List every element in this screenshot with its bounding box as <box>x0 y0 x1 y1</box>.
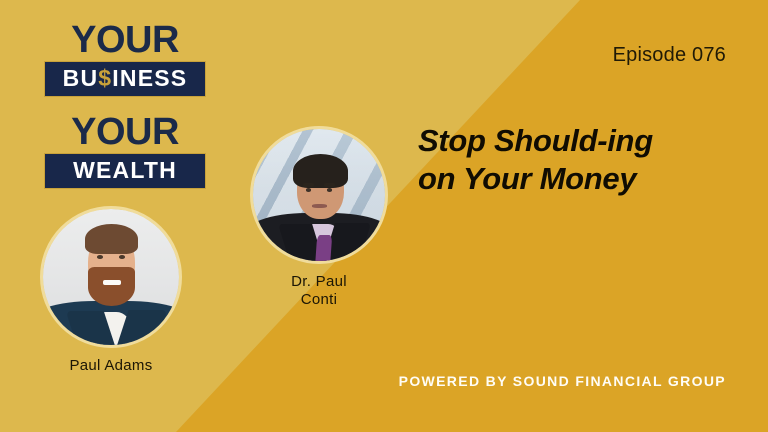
logo-badge-business: BU$INESS <box>44 61 206 97</box>
host-name-adams: Paul Adams <box>36 357 186 375</box>
host-name-adams-line-1: Paul Adams <box>69 357 152 374</box>
avatar-conti <box>250 126 388 264</box>
logo-word-your-2: YOUR <box>44 114 206 151</box>
portrait-beard <box>88 267 136 305</box>
podcast-episode-cover: YOUR BU$INESS YOUR WEALTH Episode 076 St… <box>0 0 768 432</box>
portrait-hair <box>85 224 138 254</box>
portrait-eyebrow-right <box>324 183 335 186</box>
logo-badge-wealth: WEALTH <box>44 153 206 189</box>
portrait-mouth <box>312 204 327 207</box>
episode-number: Episode 076 <box>613 44 726 67</box>
portrait-hair <box>293 154 348 188</box>
episode-title-line-2: on Your Money <box>418 160 748 198</box>
portrait-adams-illustration <box>43 209 179 345</box>
guest-name-conti-line-2: Conti <box>301 291 338 308</box>
logo-badge-business-prefix: BU <box>63 65 99 91</box>
portrait-smile <box>103 280 121 285</box>
portrait-eyebrow-left <box>303 183 314 186</box>
portrait-eyebrow-left <box>95 250 107 253</box>
host-photo-adams: Paul Adams <box>36 206 186 375</box>
portrait-eye-left <box>306 188 312 191</box>
guest-name-conti-line-1: Dr. Paul <box>291 273 347 290</box>
powered-by-footer: POWERED BY SOUND FINANCIAL GROUP <box>399 373 726 389</box>
logo-badge-business-suffix: INESS <box>112 65 187 91</box>
avatar-adams <box>40 206 182 348</box>
portrait-eyebrow-right <box>116 250 128 253</box>
show-logo: YOUR BU$INESS YOUR WEALTH <box>44 22 206 189</box>
guest-photo-conti: Dr. Paul Conti <box>246 126 392 308</box>
episode-title-line-1: Stop Should-ing <box>418 122 748 160</box>
episode-title: Stop Should-ing on Your Money <box>418 122 748 198</box>
portrait-conti-illustration <box>253 129 385 261</box>
portrait-eye-right <box>327 188 333 191</box>
guest-name-conti: Dr. Paul Conti <box>246 273 392 308</box>
logo-word-your-1: YOUR <box>44 22 206 59</box>
portrait-necktie <box>315 235 332 264</box>
dollar-sign-icon: $ <box>98 65 112 91</box>
